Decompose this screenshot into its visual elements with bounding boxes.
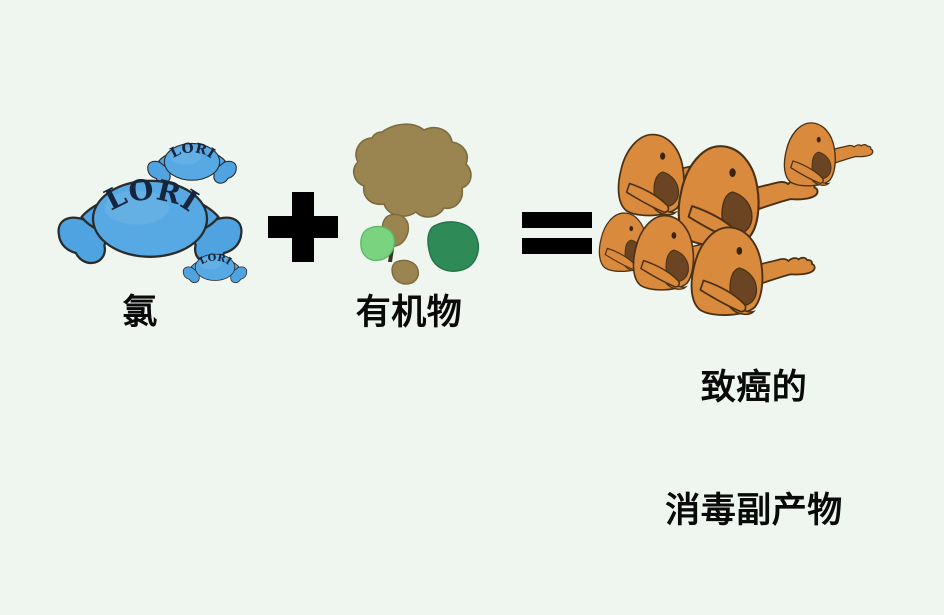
diagram-canvas: CHLORINE CHLORINE CHLORINE [0,0,944,525]
chlorine-blob-small-bottom: CHLORINE [183,252,247,282]
organic-dark-green-leaf [428,222,478,271]
label-byproducts: 致癌的 消毒副产物 [604,285,904,615]
label-organic-matter: 有机物 [288,293,530,334]
byproduct-creature-4 [784,123,872,186]
plus-operator-icon [268,192,338,262]
organic-brown-small-blob [392,260,418,284]
chlorine-blob-cluster: CHLORINE CHLORINE CHLORINE [59,140,247,282]
equals-operator-icon [522,212,592,254]
label-chlorine: 氯 [72,293,208,334]
chlorine-blob-large: CHLORINE [59,172,242,263]
organic-brown-large-blob [354,124,471,217]
label-byproducts-line1: 致癌的 [604,368,904,409]
label-byproducts-line2: 消毒副产物 [604,491,904,532]
organic-light-green-leaf [361,226,395,260]
organic-matter-cluster [354,124,479,284]
